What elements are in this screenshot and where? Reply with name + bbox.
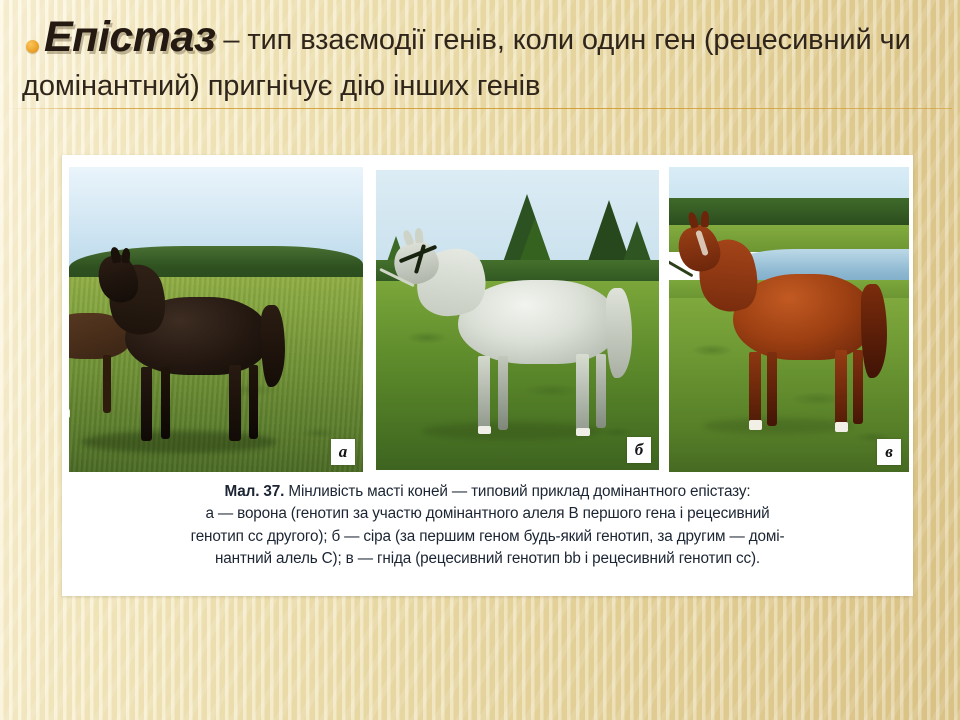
scene-b — [376, 170, 659, 470]
photo-label-b: б — [627, 437, 651, 463]
slide-text-block: Епістаз – тип взаємодії генів, коли один… — [0, 10, 960, 106]
photo-row: а — [62, 167, 913, 472]
caption-line-1-text: Мінливість масті коней — типовий приклад… — [288, 483, 750, 500]
horse-grey — [392, 236, 642, 440]
caption-line-4: нантний алель С); в — гніда (рецесивний … — [88, 548, 887, 570]
horse-black — [103, 259, 293, 448]
figure-panel: а — [62, 155, 913, 596]
caption-line-2: а — ворона (генотип за участю домінантно… — [88, 503, 887, 525]
decorative-rule — [8, 108, 952, 109]
scene-a — [69, 167, 363, 472]
horse-chestnut — [677, 222, 897, 448]
caption-line-1: Мал. 37. Мінливість масті коней — типови… — [88, 481, 887, 503]
slide-paragraph: Епістаз – тип взаємодії генів, коли один… — [22, 10, 942, 106]
bullet-dot-icon — [26, 40, 39, 53]
figure-caption: Мал. 37. Мінливість масті коней — типови… — [62, 481, 913, 571]
photo-c[interactable]: в — [669, 167, 909, 472]
caption-line-3: генотип сс другого); б — сіра (за першим… — [88, 526, 887, 548]
figure-number: Мал. 37. — [225, 483, 285, 500]
photo-b[interactable]: б — [376, 170, 659, 470]
photo-label-a: а — [331, 439, 355, 465]
photo-a[interactable]: а — [69, 167, 363, 472]
photo-label-c: в — [877, 439, 901, 465]
slide-term: Епістаз — [44, 13, 215, 61]
scene-c — [669, 167, 909, 472]
